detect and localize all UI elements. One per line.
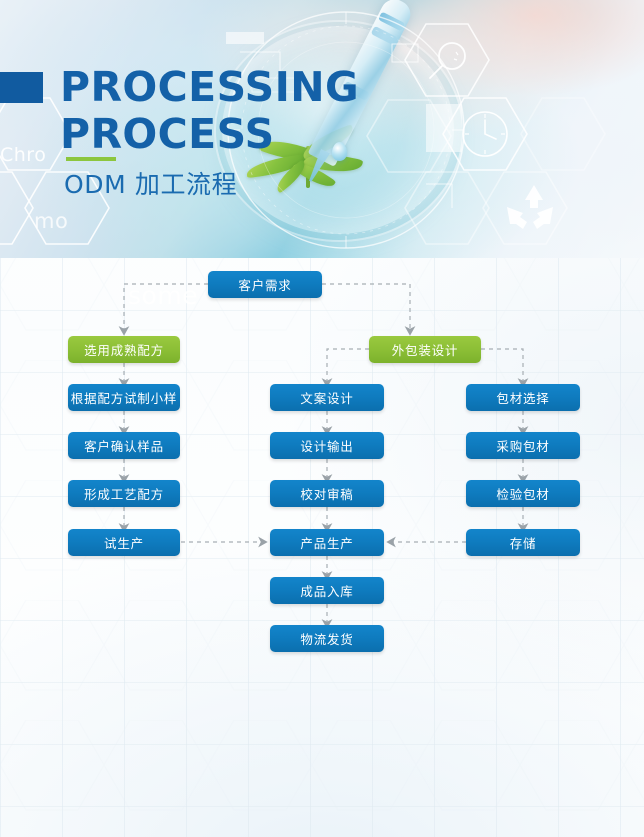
flow-node-packaging-step-4[interactable]: 存储 — [466, 529, 580, 556]
flow-node-production-step-3[interactable]: 校对审稿 — [270, 480, 384, 507]
flow-node-start[interactable]: 客户需求 — [208, 271, 322, 298]
flow-node-formula-step-4[interactable]: 试生产 — [68, 529, 180, 556]
flow-node-production-step-1[interactable]: 文案设计 — [270, 384, 384, 411]
flow-node-production-step-6[interactable]: 物流发货 — [270, 625, 384, 652]
flowchart: 客户需求 选用成熟配方 根据配方试制小样 客户确认样品 形成工艺配方 试生产 文… — [0, 0, 644, 837]
flow-node-formula-step-2[interactable]: 客户确认样品 — [68, 432, 180, 459]
flow-node-production-step-5[interactable]: 成品入库 — [270, 577, 384, 604]
flow-node-formula-step-1[interactable]: 根据配方试制小样 — [68, 384, 180, 411]
flow-node-packaging-step-3[interactable]: 检验包材 — [466, 480, 580, 507]
flow-node-packaging-head[interactable]: 外包装设计 — [369, 336, 481, 363]
flow-node-packaging-step-1[interactable]: 包材选择 — [466, 384, 580, 411]
flow-node-formula-head[interactable]: 选用成熟配方 — [68, 336, 180, 363]
flow-node-production-step-4[interactable]: 产品生产 — [270, 529, 384, 556]
flow-node-production-step-2[interactable]: 设计输出 — [270, 432, 384, 459]
flow-node-packaging-step-2[interactable]: 采购包材 — [466, 432, 580, 459]
flow-node-formula-step-3[interactable]: 形成工艺配方 — [68, 480, 180, 507]
